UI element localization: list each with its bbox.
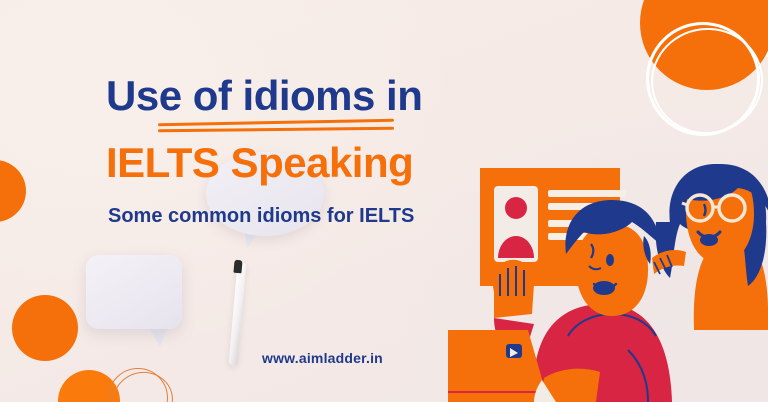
orange-circle-bottom-left (12, 295, 78, 361)
people-illustration (448, 0, 768, 402)
underline-stroke (158, 126, 394, 132)
woman-with-glasses (656, 164, 768, 330)
website-url[interactable]: www.aimladder.in (262, 350, 383, 366)
pen-tip-icon (233, 260, 242, 274)
speech-bubble-rounded (86, 255, 182, 329)
underline-stroke (158, 118, 394, 126)
page-title-line-2: IELTS Speaking (106, 141, 526, 186)
ielts-idioms-banner: Use of idioms in IELTS Speaking Some com… (0, 0, 768, 402)
